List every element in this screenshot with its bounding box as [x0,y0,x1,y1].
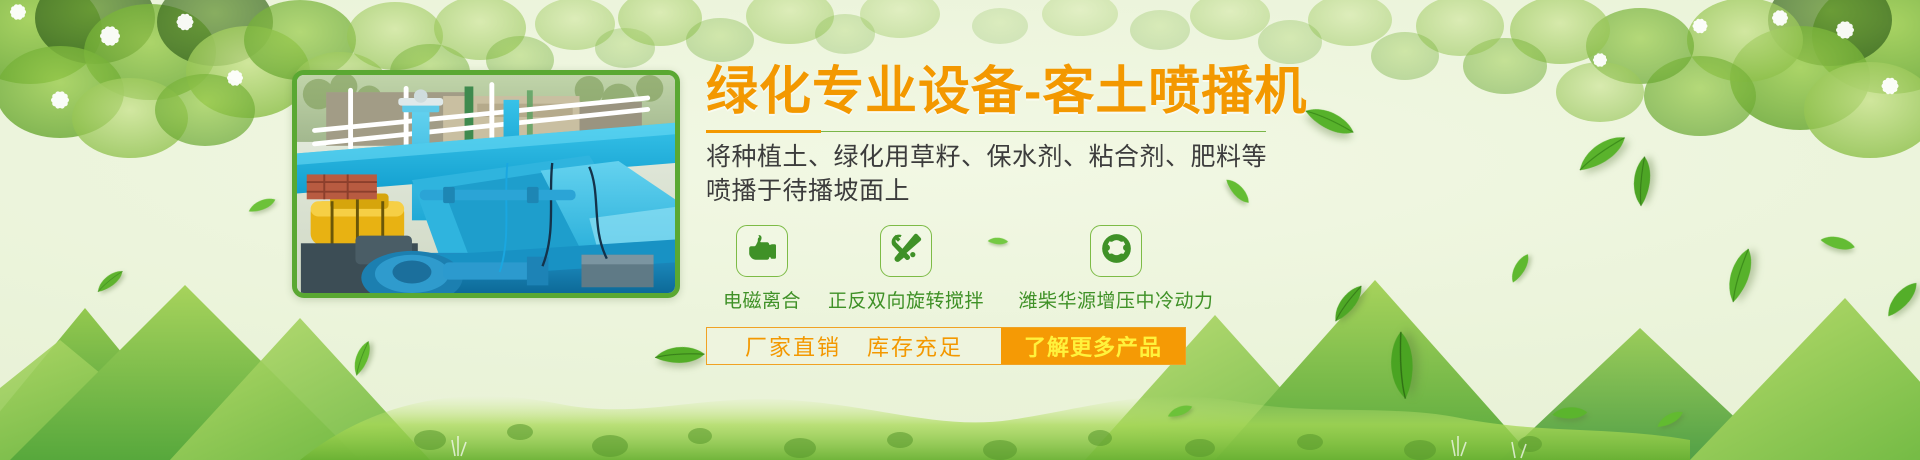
promo-banner: 绿化专业设备-客土喷播机 将种植土、绿化用草籽、保水剂、粘合剂、肥料等 喷播于待… [0,0,1920,460]
feature-label: 潍柴华源增压中冷动力 [1018,286,1213,313]
feature-item-bidirectional-mixing[interactable]: 正反双向旋转搅拌 [820,225,992,313]
product-photo-image [297,75,675,293]
cta-claim-1: 厂家直销 [745,330,841,362]
leaf-icon [1551,402,1589,425]
leaf-icon [92,268,128,294]
feature-icon-box [736,225,788,277]
copy-block: 绿化专业设备-客土喷播机 将种植土、绿化用草籽、保水剂、粘合剂、肥料等 喷播于待… [706,66,1706,365]
tools-icon [890,232,922,269]
product-photo[interactable] [292,70,680,298]
feature-icon-box [880,225,932,277]
leaf-icon [1878,278,1920,319]
cta-bar: 厂家直销 库存充足 了解更多产品 [706,327,1186,365]
feature-item-electromagnetic-clutch[interactable]: 电磁离合 [714,225,810,313]
gear-icon [1101,233,1132,269]
cta-claims: 厂家直销 库存充足 [707,328,1001,364]
feature-item-turbocharged-power[interactable]: 潍柴华源增压中冷动力 [1010,225,1222,313]
subtitle-line-2: 喷播于待播坡面上 [706,175,1706,209]
leaf-icon [1654,409,1686,429]
learn-more-button[interactable]: 了解更多产品 [1001,328,1185,364]
feature-list: 电磁离合 正 [706,225,1706,313]
leaf-icon [1166,404,1194,418]
page-title: 绿化专业设备-客土喷播机 [706,66,1706,119]
leaf-icon [653,339,707,371]
subtitle-line-1: 将种植土、绿化用草籽、保水剂、粘合剂、肥料等 [706,141,1706,175]
leaf-icon [1714,244,1765,305]
feature-icon-box [1090,225,1142,277]
thumbs-up-icon [746,233,778,268]
leaf-icon [246,196,278,213]
feature-label: 电磁离合 [723,286,801,313]
feature-label: 正反双向旋转搅拌 [828,286,984,313]
leaf-icon [345,338,380,378]
divider-green-segment [821,131,1266,132]
title-divider [706,130,1266,133]
leaf-icon [1818,228,1857,259]
divider-orange-segment [706,130,821,133]
cta-claim-2: 库存充足 [867,330,963,362]
